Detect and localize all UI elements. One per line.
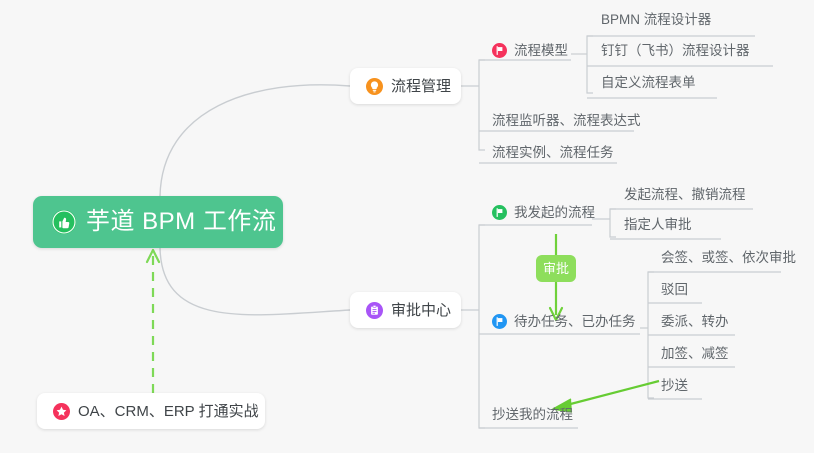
connector-spine-approval-center: [479, 225, 485, 428]
node-label-process-management: 流程管理: [391, 79, 451, 94]
node-process-instance-task[interactable]: 流程实例、流程任务: [492, 146, 614, 160]
node-start-cancel-process[interactable]: 发起流程、撤销流程: [624, 188, 746, 202]
root-node[interactable]: 芋道 BPM 工作流: [33, 196, 283, 248]
node-label-process-instance-task: 流程实例、流程任务: [492, 146, 614, 160]
node-process-listener-expression[interactable]: 流程监听器、流程表达式: [492, 114, 641, 128]
connector-spine-todo-done: [648, 272, 654, 398]
node-add-remove-sign[interactable]: 加签、减签: [661, 347, 729, 361]
node-cc-to-me-process[interactable]: 抄送我的流程: [492, 408, 573, 422]
node-label-add-remove-sign: 加签、减签: [661, 347, 729, 361]
node-label-countersign-orsign-sequential: 会签、或签、依次审批: [661, 251, 796, 265]
node-todo-done-tasks[interactable]: 待办任务、已办任务: [492, 314, 636, 329]
lightbulb-icon: [366, 78, 383, 95]
dashed-arrow-head-integration-to-root: [147, 250, 159, 262]
root-label: 芋道 BPM 工作流: [86, 210, 276, 234]
node-dingtalk-feishu-designer[interactable]: 钉钉（飞书）流程设计器: [601, 44, 750, 58]
node-label-dingtalk-feishu-designer: 钉钉（飞书）流程设计器: [601, 44, 750, 58]
connector-spine-process-management: [479, 60, 485, 150]
connector-spine-process-model: [587, 36, 593, 93]
connector-spine-my-initiated: [610, 209, 616, 237]
node-label-delegate-transfer: 委派、转办: [661, 315, 729, 329]
star-icon: [53, 403, 70, 420]
node-process-management[interactable]: 流程管理: [350, 68, 461, 104]
node-label-todo-done-tasks: 待办任务、已办任务: [514, 315, 636, 329]
node-label-cc: 抄送: [661, 379, 688, 393]
approval-badge[interactable]: 审批: [536, 255, 576, 282]
thumbs-up-icon: [51, 209, 77, 235]
connector-root-to-approval-center: [160, 248, 350, 315]
connector-root-to-process-management: [160, 85, 350, 196]
node-custom-process-form[interactable]: 自定义流程表单: [601, 76, 696, 90]
node-countersign-orsign-sequential[interactable]: 会签、或签、依次审批: [661, 251, 796, 265]
mindmap-canvas: 芋道 BPM 工作流 流程管理 审批中心: [0, 0, 814, 453]
node-label-reject: 驳回: [661, 283, 688, 297]
node-cc[interactable]: 抄送: [661, 379, 688, 393]
node-label-designated-approver: 指定人审批: [624, 218, 692, 232]
node-label-cc-to-me-process: 抄送我的流程: [492, 408, 573, 422]
node-label-integration-note: OA、CRM、ERP 打通实战: [78, 404, 259, 419]
node-label-my-initiated-process: 我发起的流程: [514, 206, 595, 220]
node-label-start-cancel-process: 发起流程、撤销流程: [624, 188, 746, 202]
node-my-initiated-process[interactable]: 我发起的流程: [492, 205, 595, 220]
flag-icon: [492, 314, 507, 329]
node-label-bpmn-designer: BPMN 流程设计器: [601, 13, 711, 27]
node-label-custom-process-form: 自定义流程表单: [601, 76, 696, 90]
flag-icon: [492, 43, 507, 58]
node-delegate-transfer[interactable]: 委派、转办: [661, 315, 729, 329]
approval-badge-label: 审批: [543, 262, 569, 275]
flag-icon: [492, 205, 507, 220]
node-process-model[interactable]: 流程模型: [492, 43, 568, 58]
clipboard-icon: [366, 302, 383, 319]
node-label-process-listener-expression: 流程监听器、流程表达式: [492, 114, 641, 128]
node-label-approval-center: 审批中心: [391, 303, 451, 318]
node-reject[interactable]: 驳回: [661, 283, 688, 297]
node-label-process-model: 流程模型: [514, 44, 568, 58]
node-designated-approver[interactable]: 指定人审批: [624, 218, 692, 232]
node-approval-center[interactable]: 审批中心: [350, 292, 461, 328]
node-integration-note[interactable]: OA、CRM、ERP 打通实战: [37, 393, 265, 429]
node-bpmn-designer[interactable]: BPMN 流程设计器: [601, 13, 711, 27]
cc-arrow-shaft: [559, 381, 659, 407]
